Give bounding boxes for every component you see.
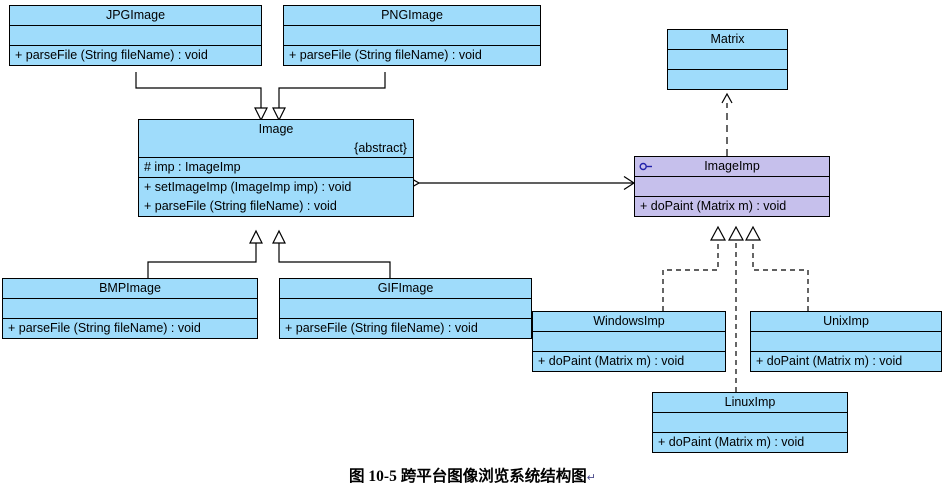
class-name-jpgimage: JPGImage bbox=[10, 6, 261, 25]
class-name-compartment: WindowsImp bbox=[533, 312, 725, 331]
method-compartment: + doPaint (Matrix m) : void bbox=[635, 196, 829, 216]
dependency-imageimp-matrix bbox=[722, 94, 732, 156]
class-name-gifimage: GIFImage bbox=[280, 279, 531, 298]
method-parsefile: + parseFile (String fileName) : void bbox=[284, 46, 540, 65]
interface-lollipop-icon bbox=[639, 161, 653, 172]
class-name-compartment: GIFImage bbox=[280, 279, 531, 298]
realization-uniximp-imageimp bbox=[746, 227, 808, 311]
class-name-compartment: ImageImp bbox=[635, 157, 829, 176]
attribute-compartment bbox=[668, 49, 787, 69]
attribute-compartment bbox=[10, 25, 261, 45]
attribute-compartment bbox=[3, 298, 257, 318]
figure-caption-text: 图 10-5 跨平台图像浏览系统结构图 bbox=[349, 468, 587, 485]
class-name-compartment: Image {abstract} bbox=[139, 120, 413, 157]
attribute-compartment bbox=[280, 298, 531, 318]
attribute-compartment bbox=[751, 331, 941, 351]
class-box-windowsimp[interactable]: WindowsImp + doPaint (Matrix m) : void bbox=[532, 311, 726, 372]
method-dopaint: + doPaint (Matrix m) : void bbox=[751, 352, 941, 371]
class-name-compartment: UnixImp bbox=[751, 312, 941, 331]
class-name-uniximp: UnixImp bbox=[751, 312, 941, 331]
class-box-linuximp[interactable]: LinuxImp + doPaint (Matrix m) : void bbox=[652, 392, 848, 453]
method-parsefile: + parseFile (String fileName) : void bbox=[10, 46, 261, 65]
attribute-compartment: # imp : ImageImp bbox=[139, 157, 413, 177]
method-compartment: + parseFile (String fileName) : void bbox=[284, 45, 540, 65]
class-name-bmpimage: BMPImage bbox=[3, 279, 257, 298]
attribute-compartment bbox=[635, 176, 829, 196]
method-dopaint: + doPaint (Matrix m) : void bbox=[653, 433, 847, 452]
attribute-compartment bbox=[533, 331, 725, 351]
class-name-compartment: JPGImage bbox=[10, 6, 261, 25]
class-name-image: Image bbox=[139, 120, 413, 139]
class-box-gifimage[interactable]: GIFImage + parseFile (String fileName) :… bbox=[279, 278, 532, 339]
generalization-gifimage-image bbox=[273, 231, 390, 278]
class-box-matrix[interactable]: Matrix bbox=[667, 29, 788, 90]
class-box-image[interactable]: Image {abstract} # imp : ImageImp + setI… bbox=[138, 119, 414, 217]
generalization-pngimage-image bbox=[273, 72, 385, 120]
uml-class-diagram: ImageImp --> Matrix (dashed, open arrow)… bbox=[0, 0, 945, 494]
method-compartment: + parseFile (String fileName) : void bbox=[3, 318, 257, 338]
method-parsefile: + parseFile (String fileName) : void bbox=[3, 319, 257, 338]
class-name-compartment: LinuxImp bbox=[653, 393, 847, 412]
method-dopaint: + doPaint (Matrix m) : void bbox=[635, 197, 829, 216]
attribute-imp: # imp : ImageImp bbox=[139, 158, 413, 177]
class-name-compartment: PNGImage bbox=[284, 6, 540, 25]
method-dopaint: + doPaint (Matrix m) : void bbox=[533, 352, 725, 371]
method-compartment: + doPaint (Matrix m) : void bbox=[533, 351, 725, 371]
method-compartment: + parseFile (String fileName) : void bbox=[280, 318, 531, 338]
method-compartment: + doPaint (Matrix m) : void bbox=[751, 351, 941, 371]
attribute-compartment bbox=[284, 25, 540, 45]
generalization-jpgimage-image bbox=[136, 72, 267, 120]
class-box-jpgimage[interactable]: JPGImage + parseFile (String fileName) :… bbox=[9, 5, 262, 66]
class-box-uniximp[interactable]: UnixImp + doPaint (Matrix m) : void bbox=[750, 311, 942, 372]
class-box-pngimage[interactable]: PNGImage + parseFile (String fileName) :… bbox=[283, 5, 541, 66]
class-name-windowsimp: WindowsImp bbox=[533, 312, 725, 331]
class-name-imageimp: ImageImp bbox=[635, 157, 829, 176]
class-box-imageimp[interactable]: ImageImp + doPaint (Matrix m) : void bbox=[634, 156, 830, 217]
method-compartment: + parseFile (String fileName) : void bbox=[10, 45, 261, 65]
method-parsefile: + parseFile (String fileName) : void bbox=[139, 197, 413, 216]
paragraph-mark-icon: ↵ bbox=[587, 472, 596, 484]
method-setimageimp: + setImageImp (ImageImp imp) : void bbox=[139, 178, 413, 197]
class-name-pngimage: PNGImage bbox=[284, 6, 540, 25]
class-name-linuximp: LinuxImp bbox=[653, 393, 847, 412]
class-name-compartment: BMPImage bbox=[3, 279, 257, 298]
realization-linuximp-imageimp bbox=[729, 227, 743, 392]
generalization-bmpimage-image bbox=[148, 231, 262, 278]
method-compartment: + setImageImp (ImageImp imp) : void + pa… bbox=[139, 177, 413, 216]
class-stereotype-abstract: {abstract} bbox=[139, 139, 413, 157]
method-parsefile: + parseFile (String fileName) : void bbox=[280, 319, 531, 338]
realization-windowsimp-imageimp bbox=[663, 227, 725, 311]
class-name-compartment: Matrix bbox=[668, 30, 787, 49]
figure-caption: 图 10-5 跨平台图像浏览系统结构图↵ bbox=[0, 464, 945, 486]
method-compartment bbox=[668, 69, 787, 89]
class-box-bmpimage[interactable]: BMPImage + parseFile (String fileName) :… bbox=[2, 278, 258, 339]
attribute-compartment bbox=[653, 412, 847, 432]
class-name-matrix: Matrix bbox=[668, 30, 787, 49]
method-compartment: + doPaint (Matrix m) : void bbox=[653, 432, 847, 452]
aggregation-image-imageimp bbox=[403, 177, 634, 190]
